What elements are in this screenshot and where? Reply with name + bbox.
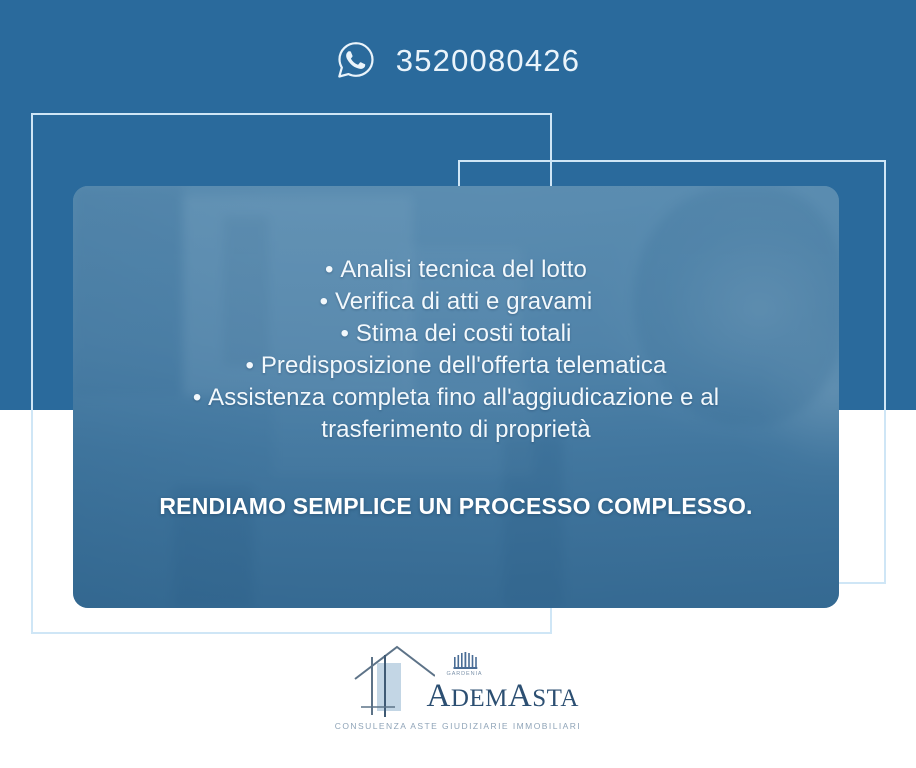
logo-main: GARDENIA ADEMASTA — [351, 645, 566, 719]
list-item: Analisi tecnica del lotto — [136, 254, 776, 286]
logo-wordmark: ADEMASTA — [427, 677, 579, 718]
list-item: Assistenza completa fino all'aggiudicazi… — [136, 382, 776, 446]
phone-number[interactable]: 3520080426 — [396, 45, 580, 76]
logo-name-part4: STA — [532, 685, 579, 712]
list-item: Stima dei costi totali — [136, 318, 776, 350]
whatsapp-icon[interactable] — [336, 40, 376, 80]
list-item: Predisposizione dell'offerta telematica — [136, 350, 776, 382]
card-content: Analisi tecnica del lotto Verifica di at… — [73, 186, 839, 608]
list-item: Verifica di atti e gravami — [136, 286, 776, 318]
logo-name-part2: DEM — [451, 685, 508, 712]
contact-strip: 3520080426 — [0, 30, 916, 90]
logo-subtitle: CONSULENZA ASTE GIUDIZIARIE IMMOBILIARI — [335, 721, 581, 731]
poster-canvas: 3520080426 Analisi tecnica del lotto Ver… — [0, 0, 916, 768]
service-bullet-list: Analisi tecnica del lotto Verifica di at… — [136, 254, 776, 446]
logo-name-part1: A — [427, 678, 451, 714]
content-card: Analisi tecnica del lotto Verifica di at… — [73, 186, 839, 608]
crown-icon — [437, 652, 493, 670]
logo-name-part3: A — [508, 678, 532, 714]
brand-logo: GARDENIA ADEMASTA CONSULENZA ASTE GIUDIZ… — [0, 645, 916, 755]
tagline: RENDIAMO SEMPLICE UN PROCESSO COMPLESSO. — [159, 493, 752, 520]
